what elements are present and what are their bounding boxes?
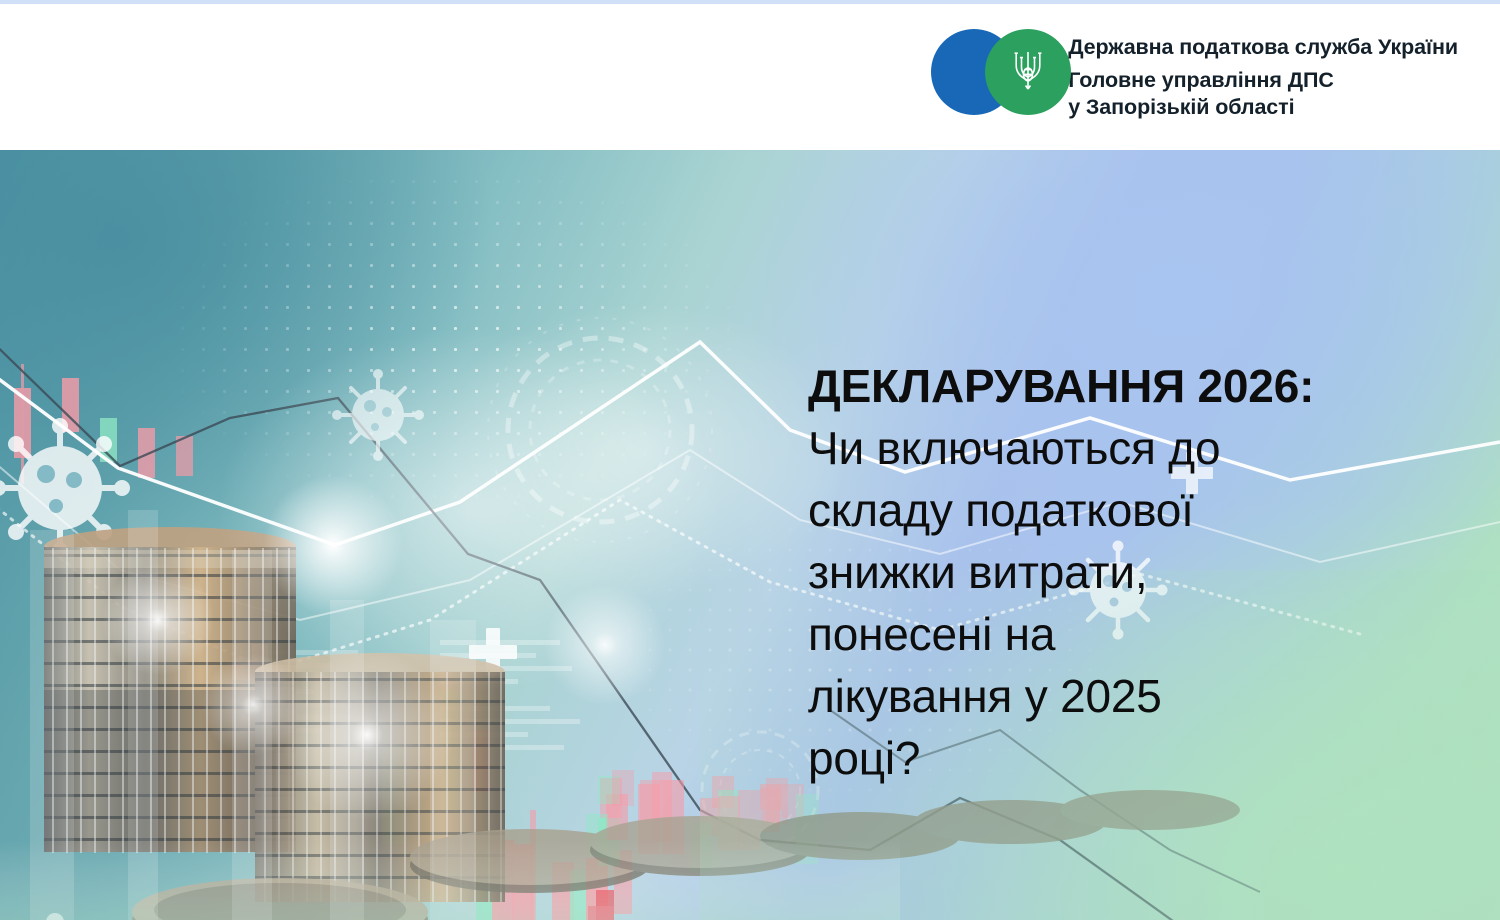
headline-line-4: понесені на	[808, 603, 1468, 665]
ukraine-trident-icon	[1013, 49, 1043, 95]
dps-logo	[923, 28, 1068, 116]
hero-banner: ДЕКЛАРУВАННЯ 2026: Чи включаються до скл…	[0, 150, 1500, 920]
brand-text: Державна податкова служба України Головн…	[1068, 28, 1458, 122]
headline-line-3: знижки витрати,	[808, 541, 1468, 603]
headline-line-5: лікування у 2025	[808, 665, 1468, 727]
headline-line-1: Чи включаються до	[808, 417, 1468, 479]
headline-line-2: складу податкової	[808, 479, 1468, 541]
brand-block: Державна податкова служба України Головн…	[923, 28, 1458, 122]
org-title-line-3: у Запорізькій області	[1068, 94, 1458, 122]
headline-line-6: році?	[808, 727, 1468, 789]
hero-headline: ДЕКЛАРУВАННЯ 2026: Чи включаються до скл…	[808, 355, 1468, 789]
slide-root: Державна податкова служба України Головн…	[0, 0, 1500, 920]
headline-kicker: ДЕКЛАРУВАННЯ 2026:	[808, 355, 1468, 417]
org-title-line-1: Державна податкова служба України	[1068, 34, 1458, 61]
org-title-line-2: Головне управління ДПС	[1068, 67, 1458, 95]
site-header: Державна податкова служба України Головн…	[0, 4, 1500, 150]
